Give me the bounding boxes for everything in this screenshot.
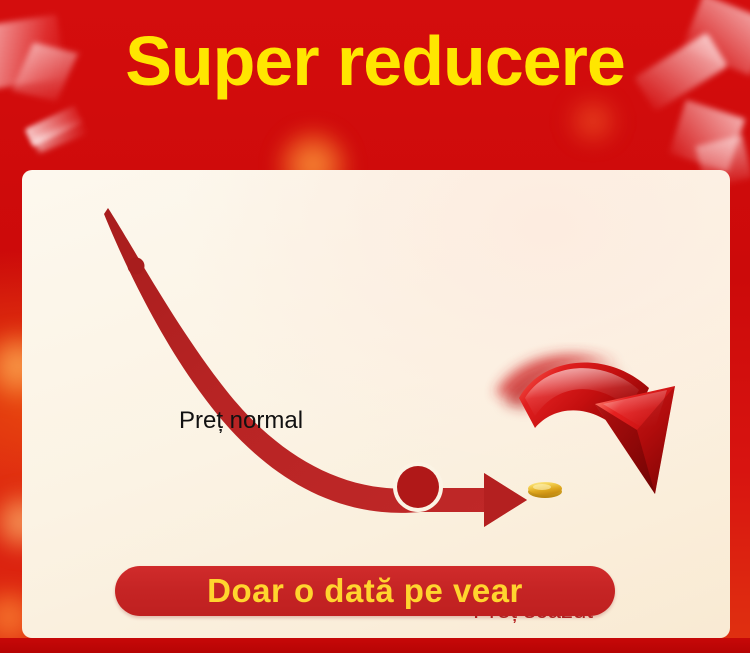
cta-pill-button[interactable]: Doar o dată pe vear [115, 566, 615, 616]
small-dot-marker-icon [128, 258, 145, 275]
normal-price-label: Preț normal [179, 407, 303, 435]
ringed-dot-marker-icon [397, 466, 439, 508]
right-arrow-head-icon [484, 473, 527, 527]
price-decline-curve [104, 208, 527, 527]
page-title: Super reducere [0, 26, 750, 96]
bottom-strip [0, 638, 750, 653]
cta-pill-label: Doar o dată pe vear [207, 572, 523, 610]
promo-banner: Super reducere [0, 0, 750, 653]
